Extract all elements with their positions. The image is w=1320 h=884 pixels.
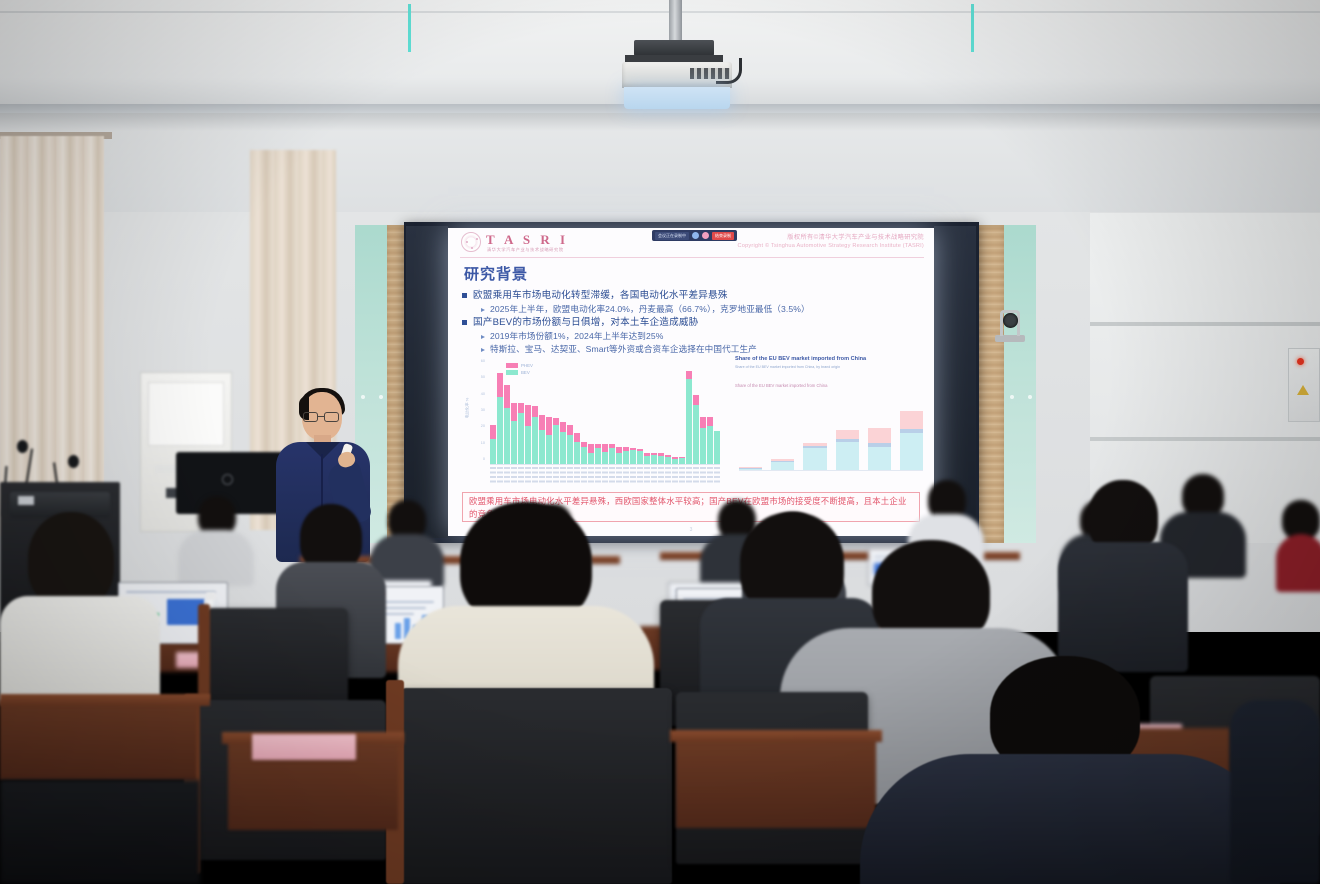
panel-seam-1: [1090, 322, 1320, 326]
lecture-hall-scene: T A S R I 清华大学汽车产业与技术战略研究院 版权所有©清华大学汽车产业…: [0, 0, 1320, 884]
microphone-head-icon: [68, 455, 79, 468]
bullet-square-icon: [462, 293, 467, 298]
y-tick-label: 20: [481, 424, 485, 428]
chart-bar: [700, 417, 706, 464]
copyright-en: Copyright © Tsinghua Automotive Strategy…: [738, 243, 924, 249]
chart-right-title: Share of the EU BEV market imported from…: [735, 356, 866, 362]
bar-segment-phev: [686, 371, 692, 379]
bar-segment-phev: [518, 403, 524, 414]
chart-eu-electrification-rate: 电动化率 % 0102030405060 PHEV BEV: [466, 361, 722, 479]
chart-bar: [616, 447, 622, 464]
bar-segment-phev: [567, 425, 573, 436]
chart-bar: [836, 430, 859, 470]
glass-column-right: [1004, 225, 1036, 543]
chart-bar: [679, 457, 685, 464]
chart-bar: [588, 444, 594, 464]
bar-segment-bev: [700, 428, 706, 464]
bar-segment-bev: [560, 432, 566, 464]
arrow-bullet-icon: [481, 348, 485, 352]
chart-eu-bev-imports: Share of the EU BEV market imported from…: [733, 356, 925, 486]
chart-bar: [567, 425, 573, 464]
chart-bar: [771, 459, 794, 470]
y-tick-label: 0: [483, 457, 485, 461]
chart-right-caption: Share of the EU BEV market imported from…: [735, 383, 827, 388]
bar-segment-bev: [651, 455, 657, 464]
person-torso: [1230, 700, 1320, 884]
bullet-item: 国产BEV的市场份额与日俱增，对本土车企造成威胁: [462, 316, 926, 329]
slide-title: 研究背景: [464, 263, 528, 284]
x-tick-label: [497, 467, 503, 485]
x-tick-label: [623, 467, 629, 485]
presenter-glasses-icon: [303, 412, 341, 422]
person-torso: [178, 530, 254, 586]
bar-segment-bev: [658, 456, 664, 464]
bar-segment-bev: [567, 435, 573, 464]
bar-segment-bev: [630, 450, 636, 464]
podium-display-panel: [18, 496, 34, 505]
desk-surface: [0, 694, 210, 706]
bar-segment-chinese-brands: [868, 428, 891, 443]
bar-segment-phev: [532, 406, 538, 417]
sub-bullet-item: 特斯拉、宝马、达契亚、Smart等外资或合资车企选择在中国代工生产: [481, 343, 926, 355]
bar-segment-bev: [574, 442, 580, 464]
chart-bar: [602, 444, 608, 464]
bar-segment-bev: [714, 431, 720, 464]
chart-bar: [623, 447, 629, 464]
bar-segment-bev: [525, 426, 531, 464]
chart-bar: [707, 417, 713, 464]
bar-segment-bev: [504, 408, 510, 464]
bullet-item: 欧盟乘用车市场电动化转型滞缓，各国电动化水平差异悬殊: [462, 289, 926, 302]
bar-segment-chinese-brands: [900, 411, 923, 429]
bar-segment-bev: [707, 426, 713, 464]
bar-segment-western-brands: [771, 462, 794, 470]
x-tick-label: [518, 467, 524, 485]
x-tick-label: [574, 467, 580, 485]
copyright-cn: 版权所有©清华大学汽车产业与技术战略研究院: [787, 232, 924, 241]
person-torso: [0, 596, 160, 706]
desk-surface: [670, 730, 882, 742]
audience-person: [1276, 500, 1320, 592]
bar-segment-western-brands: [900, 433, 923, 470]
control-panel-led-icon: [1297, 358, 1304, 365]
audience-person: [178, 496, 254, 584]
chart-bar: [504, 385, 510, 464]
stop-recording-button[interactable]: 结束录制: [712, 232, 734, 240]
bar-segment-phev: [504, 385, 510, 408]
ceiling-seam: [0, 11, 1320, 13]
bullet-text: 欧盟乘用车市场电动化转型滞缓，各国电动化水平差异悬殊: [473, 289, 728, 302]
bar-segment-bev: [679, 458, 685, 464]
chart-bar: [518, 403, 524, 464]
chart-bar: [595, 444, 601, 464]
chart-bar: [658, 453, 664, 464]
x-tick-label: [525, 467, 531, 485]
bar-segment-western-brands: [868, 447, 891, 470]
x-tick-label: [609, 467, 615, 485]
x-tick-label: [686, 467, 692, 485]
chart-bar: [490, 425, 496, 464]
y-tick-label: 30: [481, 408, 485, 412]
arrow-bullet-icon: [481, 335, 485, 339]
chart-bar: [644, 453, 650, 464]
screen-bezel-left: [406, 226, 448, 538]
projector-pole: [669, 0, 682, 44]
bar-segment-chinese-brands: [836, 430, 859, 439]
y-tick-label: 40: [481, 392, 485, 396]
bar-segment-phev: [602, 444, 608, 451]
x-tick-label: [707, 467, 713, 485]
bar-segment-bev: [553, 425, 559, 464]
desk-near: [676, 738, 876, 828]
bar-segment-bev: [623, 451, 629, 464]
bar-segment-western-brands: [836, 442, 859, 470]
y-tick-label: 60: [481, 359, 485, 363]
slide-page-number: 3: [690, 527, 693, 533]
chart-bar: [511, 403, 517, 464]
chart-bar: [686, 371, 692, 464]
sub-bullet-item: 2019年市场份额1%，2024年上半年达到25%: [481, 330, 926, 342]
projector-bracket: [634, 40, 714, 56]
chart-bar: [803, 443, 826, 470]
bar-segment-bev: [539, 430, 545, 464]
dell-logo-icon: [222, 474, 233, 485]
ptz-camera-icon: [1003, 313, 1018, 328]
chart-bar: [525, 405, 531, 464]
x-tick-label: [672, 467, 678, 485]
projected-slide: T A S R I 清华大学汽车产业与技术战略研究院 版权所有©清华大学汽车产业…: [448, 228, 934, 536]
x-tick-label: [539, 467, 545, 485]
bar-segment-bev: [616, 453, 622, 464]
x-tick-label: [532, 467, 538, 485]
bar-segment-bev: [644, 456, 650, 464]
slide-header: T A S R I 清华大学汽车产业与技术战略研究院 版权所有©清华大学汽车产业…: [448, 228, 934, 258]
projector-lens: [624, 87, 730, 109]
bar-segment-bev: [588, 453, 594, 464]
chart-right-axis: [739, 470, 923, 471]
desk-name-card: [252, 734, 356, 760]
warning-triangle-icon: [1297, 385, 1309, 395]
tasri-logo-icon: [461, 232, 481, 252]
x-tick-label: [637, 467, 643, 485]
chart-bar: [672, 457, 678, 464]
desk-near-left: [0, 700, 196, 780]
foreground-person: [860, 656, 1280, 884]
chart-bar: [574, 433, 580, 464]
bar-segment-phev: [707, 417, 713, 427]
foreground-person: [1230, 700, 1320, 884]
x-tick-label: [658, 467, 664, 485]
bar-segment-bev: [637, 451, 643, 464]
chart-bar: [900, 411, 923, 470]
chart-y-axis: 电动化率 % 0102030405060: [466, 361, 488, 465]
x-tick-label: [546, 467, 552, 485]
x-tick-label: [511, 467, 517, 485]
x-tick-label: [700, 467, 706, 485]
bar-segment-bev: [546, 435, 552, 464]
bar-segment-phev: [574, 433, 580, 442]
foreground-desk-edge: [0, 780, 200, 884]
bullet-square-icon: [462, 320, 467, 325]
sub-bullet-item: 2025年上半年，欧盟电动化率24.0%，丹麦最高（66.7%），克罗地亚最低（…: [481, 303, 926, 315]
bar-segment-phev: [525, 405, 531, 426]
sub-bullet-text: 2019年市场份额1%，2024年上半年达到25%: [490, 330, 663, 342]
chart-right-subtitle: Share of the EU BEV market imported from…: [735, 365, 925, 370]
chart-bar: [546, 417, 552, 464]
chart-right-plot-area: [739, 394, 923, 470]
bar-segment-phev: [693, 395, 699, 406]
chart-bar: [609, 444, 615, 464]
slide-bullet-list: 欧盟乘用车市场电动化转型滞缓，各国电动化水平差异悬殊 2025年上半年，欧盟电动…: [462, 288, 926, 355]
bar-segment-bev: [602, 452, 608, 464]
x-tick-label: [504, 467, 510, 485]
x-tick-label: [665, 467, 671, 485]
y-tick-label: 10: [481, 441, 485, 445]
chair-back: [0, 780, 200, 884]
bar-segment-bev: [595, 448, 601, 464]
ptz-camera-mount: [995, 335, 1025, 342]
audience-person-left: [0, 512, 160, 692]
chart-bar: [651, 453, 657, 464]
chart-bar: [693, 395, 699, 464]
panel-seam-2: [1090, 437, 1320, 441]
y-tick-label: 50: [481, 375, 485, 379]
bar-segment-phev: [700, 417, 706, 428]
bar-segment-phev: [588, 444, 594, 453]
x-tick-label: [679, 467, 685, 485]
recording-status-label: 会议正在录制中: [655, 232, 689, 240]
x-tick-label: [581, 467, 587, 485]
chart-bar: [532, 406, 538, 464]
chart-y-label: 电动化率 %: [464, 398, 470, 419]
chart-bar: [637, 449, 643, 464]
x-tick-label: [714, 467, 720, 485]
bar-segment-bev: [693, 405, 699, 464]
chart-bar: [497, 373, 503, 464]
person-down-jacket: [860, 754, 1280, 884]
x-tick-label: [616, 467, 622, 485]
bar-segment-bev: [490, 439, 496, 464]
chart-x-axis-labels: [490, 467, 720, 485]
bar-segment-bev: [532, 417, 538, 464]
share-screen-icon[interactable]: [702, 232, 709, 239]
bar-segment-phev: [560, 422, 566, 432]
participants-icon[interactable]: [692, 232, 699, 239]
cabinet-door: [148, 382, 224, 446]
bar-segment-phev: [546, 417, 552, 436]
header-divider: [460, 257, 924, 258]
x-tick-label: [560, 467, 566, 485]
x-tick-label: [651, 467, 657, 485]
x-tick-label: [644, 467, 650, 485]
person-torso: [1058, 542, 1188, 672]
meeting-toolbar[interactable]: 会议正在录制中 结束录制: [652, 230, 737, 241]
bar-segment-bev: [497, 397, 503, 464]
upper-wall-shadow: [0, 113, 1320, 131]
chart-bar: [581, 442, 587, 464]
tasri-subtitle: 清华大学汽车产业与技术战略研究院: [487, 247, 564, 253]
chart-bar: [868, 428, 891, 470]
x-tick-label: [595, 467, 601, 485]
chart-bar: [539, 415, 545, 464]
x-tick-label: [490, 467, 496, 485]
bullet-text: 国产BEV的市场份额与日俱增，对本土车企造成威胁: [473, 316, 698, 329]
x-tick-label: [567, 467, 573, 485]
microphone-head-icon: [17, 440, 28, 453]
screen-accent-left: [408, 4, 411, 52]
chart-bar: [560, 422, 566, 464]
bar-segment-phev: [497, 373, 503, 397]
x-tick-label: [553, 467, 559, 485]
x-tick-label: [630, 467, 636, 485]
x-tick-label: [588, 467, 594, 485]
chart-plot-area: [490, 367, 720, 465]
bar-segment-bev: [672, 459, 678, 464]
bar-segment-bev: [581, 447, 587, 464]
arrow-bullet-icon: [481, 308, 485, 312]
tasri-wordmark: T A S R I: [486, 232, 569, 248]
audience-person: [1058, 480, 1188, 670]
bar-segment-bev: [511, 421, 517, 464]
bar-segment-western-brands: [803, 448, 826, 470]
bar-segment-phev: [490, 425, 496, 439]
person-head: [28, 512, 114, 608]
chart-bar: [553, 418, 559, 464]
bar-segment-bev: [518, 413, 524, 464]
bar-segment-phev: [539, 415, 545, 430]
chart-bar: [630, 448, 636, 464]
sub-bullet-text: 2025年上半年，欧盟电动化率24.0%，丹麦最高（66.7%），克罗地亚最低（…: [490, 303, 810, 315]
window-curtain-left: [0, 136, 104, 536]
bar-segment-bev: [609, 448, 615, 464]
screen-accent-right: [971, 4, 974, 52]
sub-bullet-text: 特斯拉、宝马、达契亚、Smart等外资或合资车企选择在中国代工生产: [490, 343, 757, 355]
chart-bar: [714, 431, 720, 464]
chart-bar: [665, 455, 671, 464]
bar-segment-phev: [511, 403, 517, 421]
bottle-cap: [206, 592, 216, 600]
x-tick-label: [602, 467, 608, 485]
x-tick-label: [693, 467, 699, 485]
bar-segment-bev: [665, 457, 671, 464]
bar-segment-bev: [686, 379, 692, 464]
auditorium-chair[interactable]: [400, 688, 672, 884]
person-torso: [1276, 534, 1320, 592]
